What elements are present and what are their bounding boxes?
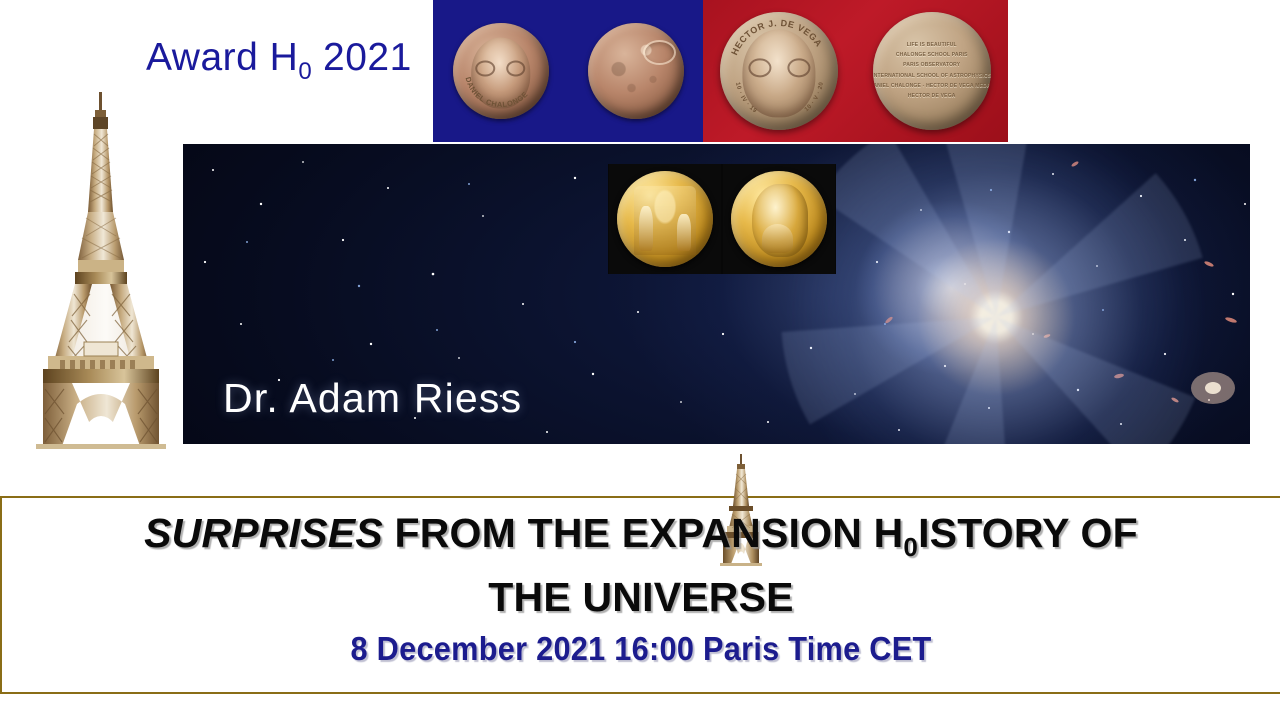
chalonge-medal-panel: DANIEL CHALONGE [433,0,703,142]
devega-medal-panel: HECTOR J. DE VEGA 10 · IV · 1949 10 · V … [703,0,1008,142]
speaker-name-label: Dr. Adam Riess [223,375,522,422]
title-subscript: 0 [903,532,918,562]
caption-box: SURPRISES FROM THE EXPANSION H0ISTORY OF… [0,496,1280,694]
page-title: SURPRISES FROM THE EXPANSION H0ISTORY OF… [2,498,1280,622]
award-heading-subscript: 0 [298,58,311,85]
title-rest-a: FROM THE EXPANSION H [383,510,904,556]
devega-medal-obverse: HECTOR J. DE VEGA 10 · IV · 1949 10 · V … [720,12,838,130]
devega-medal-reverse: LIFE IS BEAUTIFUL CHALONGE SCHOOL PARIS … [873,12,991,130]
title-rest-b: ISTORY OF [918,510,1138,556]
chalonge-medal-reverse [588,23,684,119]
devega-reverse-inscription: LIFE IS BEAUTIFUL CHALONGE SCHOOL PARIS … [892,38,972,104]
nobel-medal-obverse [723,164,835,274]
reverse-line: PARIS OBSERVATORY [903,63,960,68]
award-heading: Award H0 2021 [146,36,412,86]
reverse-line: INTERNATIONAL SCHOOL OF ASTROPHYSICS [873,74,991,79]
medal-strip: DANIEL CHALONGE HECTOR J. DE VEGA 10 · I… [433,0,1008,142]
award-heading-text-after: 2021 [312,36,412,79]
nobel-medal-pair [608,164,836,274]
reverse-line: LIFE IS BEAUTIFUL [907,43,957,48]
title-line-2: THE UNIVERSE [488,574,793,620]
spiral-galaxy-image: Dr. Adam Riess [183,144,1250,444]
award-heading-text-before: Award H [146,36,298,79]
reverse-line: HECTOR DE VEGA [908,94,956,99]
eiffel-tower-icon [12,84,190,456]
reverse-line: DANIEL CHALONGE - HECTOR DE VEGA MEDAL [873,84,991,89]
chalonge-medal-obverse: DANIEL CHALONGE [453,23,549,119]
title-italic-word: SURPRISES [144,510,383,556]
reverse-line: CHALONGE SCHOOL PARIS [896,53,968,58]
nobel-medal-reverse [609,164,721,274]
event-datetime: 8 December 2021 16:00 Paris Time CET [47,630,1236,668]
